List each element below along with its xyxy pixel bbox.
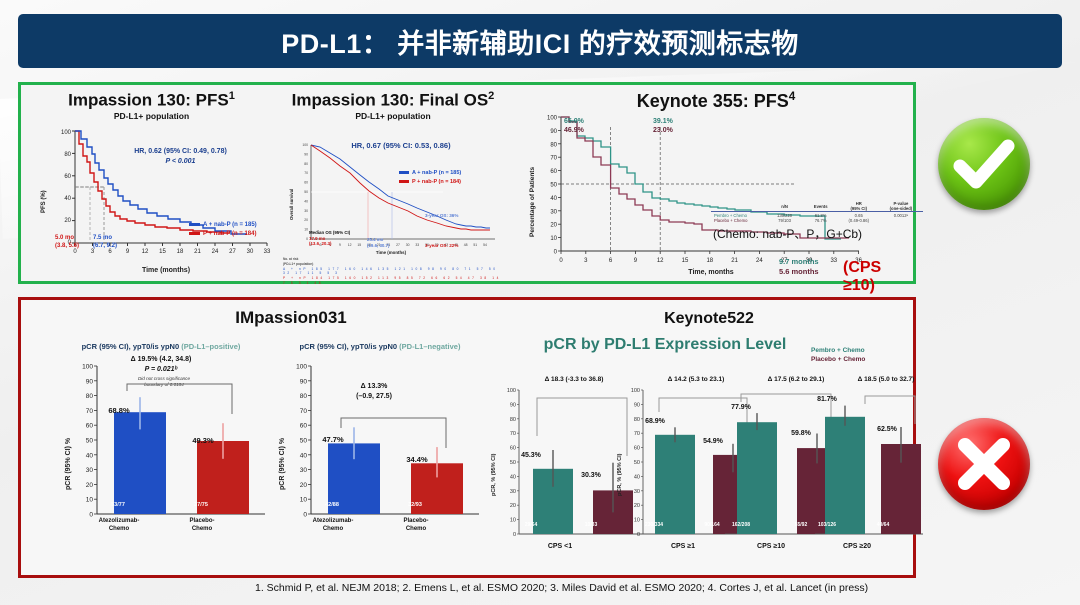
svg-text:80: 80 [64,152,71,158]
svg-text:80: 80 [300,393,308,400]
svg-text:33: 33 [264,249,271,255]
svg-text:80: 80 [86,393,94,400]
svg-text:60: 60 [86,423,94,430]
legend-swatch-blue [189,223,200,226]
svg-text:12: 12 [657,258,664,264]
svg-text:100: 100 [547,116,558,122]
svg-text:20: 20 [304,218,308,222]
value-label-atezo-positive: 68.8% [89,406,149,415]
n-label-cps-lt1-pembro: 29/64 [507,522,555,528]
svg-text:18: 18 [177,249,184,255]
svg-text:27: 27 [229,249,236,255]
svg-text:60: 60 [64,174,71,180]
svg-text:10: 10 [550,236,557,242]
svg-text:90: 90 [634,402,640,408]
svg-text:100: 100 [296,364,307,371]
stats-table-keynote355: n/N Events HR(95% CI) P-value(one-sided)… [711,201,923,223]
svg-text:40: 40 [550,196,557,202]
svg-text:9: 9 [634,258,638,264]
ylabel-cps-lt1: pCR, % (95% CI) [491,454,497,496]
ylabel-impassion031-positive: pCR (95% CI) % [65,438,72,490]
svg-text:30: 30 [406,243,410,247]
stat-hr-ci: (0.49-0.86) [839,218,879,223]
n-label-cps-ge20-pembro: 103/126 [803,522,851,528]
category-label-atezo-positive: Atezolizumab-Chemo [83,518,155,533]
svg-text:0: 0 [637,532,640,538]
n-label-cps-ge1-pembro: 230/334 [629,522,679,528]
svg-text:9: 9 [126,249,130,255]
svg-text:50: 50 [86,438,94,445]
chart-title-impassion031-negative: pCR (95% CI), ypT0/is ypN0 (PD-L1–negati… [269,342,491,351]
n-label-cps-lt1-placebo: 10/33 [567,522,615,528]
stat-col-events: Events [803,201,839,212]
ylabel-impassion130-pfs: PFS (%) [41,190,47,213]
median-label-pfs-red: 5.0 mo (3.8, 5.6) [55,235,79,250]
svg-text:12: 12 [142,249,149,255]
value-label-cps-ge10-pembro: 77.9% [717,404,765,411]
svg-text:0: 0 [554,250,558,256]
svg-text:20: 20 [64,218,71,224]
svg-text:24: 24 [756,258,763,264]
svg-text:30: 30 [510,489,516,495]
xlabel-keynote355: Time, months [621,269,801,276]
delta-impassion031-negative: Δ 13.3% [309,383,439,390]
svg-text:80: 80 [304,162,308,166]
stat-row-placebo: Placebo + Chemo 79/103 76.7% (0.49-0.86) [711,218,923,223]
value-label-atezo-negative: 47.7% [303,435,363,444]
ylabel-impassion130-os: Overall survival [289,189,294,220]
value-label-cps-ge20-placebo: 62.5% [863,426,911,433]
category-label-cps-lt1: CPS <1 [505,543,615,552]
svg-text:40: 40 [64,196,71,202]
cps-note-keynote355: (CPS ≥10) [843,259,913,295]
svg-text:40: 40 [86,452,94,459]
svg-text:100: 100 [82,364,93,371]
svg-text:0: 0 [559,258,563,264]
svg-text:50: 50 [510,460,516,466]
legend-item-pembro: Pembro + Chemo [811,346,865,355]
landmark-12mo-keynote355: 39.1% 23.0% [653,117,673,136]
svg-text:15: 15 [159,249,166,255]
category-label-placebo-negative: Placebo-Chemo [380,518,452,533]
risk-table-impassion130-os: No. at risk (PD-L1+ population) A + nP 1… [283,257,508,286]
svg-text:0: 0 [306,237,308,241]
panel-predictive-negative: IMpassion031 Keynote522 pCR (95% CI), yp… [18,297,916,578]
svg-text:20: 20 [510,503,516,509]
svg-text:100: 100 [61,130,72,136]
svg-text:50: 50 [304,190,308,194]
legend-item-placebo: Placebo + Chemo [811,355,865,364]
svg-text:70: 70 [300,408,308,415]
svg-text:40: 40 [300,452,308,459]
ylabel-cps-ge1: pCR, % (95% CI) [617,454,623,496]
svg-text:70: 70 [304,171,308,175]
slide-title-bar: PD-L1： 并非新辅助ICI 的疗效预测标志物 [18,14,1062,68]
svg-text:100: 100 [631,388,640,394]
svg-text:100: 100 [302,143,308,147]
n-label-placebo-positive: 37/75 [172,502,230,508]
delta-ci-impassion031-negative: (–0.9, 27.5) [309,393,439,400]
svg-text:60: 60 [510,446,516,452]
landmark-6mo-keynote355: 65.0% 46.9% [564,117,584,136]
median-label-pfs-blue: 7.5 mo (6.7, 9.2) [93,235,117,250]
svg-text:20: 20 [300,482,308,489]
chart-title-keynote522: pCR by PD-L1 Expression Level [485,336,845,354]
references-footnote: 1. Schmid P, et al. NEJM 2018; 2. Emens … [255,582,1075,594]
landmark-os-blue: 3-year OS: 36% [425,213,458,218]
svg-text:15: 15 [682,258,689,264]
svg-text:15: 15 [357,243,361,247]
n-label-cps-ge10-pembro: 162/208 [717,522,765,528]
svg-text:90: 90 [86,378,94,385]
svg-text:21: 21 [731,258,738,264]
legend-swatch-blue-os [399,171,409,174]
category-label-placebo-positive: Placebo-Chemo [166,518,238,533]
median-box-impassion130-os: Median OS (95% CI) 17.9 mo (13.6, 20.3) [309,230,350,247]
svg-text:50: 50 [550,183,557,189]
n-label-placebo-negative: 32/93 [386,502,444,508]
svg-text:20: 20 [86,482,94,489]
svg-text:30: 30 [634,489,640,495]
svg-text:30: 30 [304,209,308,213]
ylabel-keynote355: Percentage of Patients [529,167,536,237]
value-label-placebo-positive: 49.3% [173,436,233,445]
stat-col-p: P-value(one-sided) [879,201,923,212]
stat-col-hr: HR(95% CI) [839,201,879,212]
svg-text:40: 40 [510,474,516,480]
legend-swatch-red-os [399,180,409,183]
hr-annotation-impassion130-os: HR, 0.67 (95% CI: 0.53, 0.86) [321,141,481,152]
xlabel-impassion130-os: Time (months) [331,250,451,255]
n-label-atezo-positive: 53/77 [89,502,147,508]
section-header-keynote522: Keynote522 [589,310,829,328]
svg-text:90: 90 [550,129,557,135]
value-label-cps-ge20-pembro: 81.7% [803,396,851,403]
svg-text:40: 40 [634,474,640,480]
svg-text:60: 60 [300,423,308,430]
svg-text:6: 6 [609,258,613,264]
legend-keynote522: Pembro + Chemo Placebo + Chemo [811,346,865,365]
category-label-atezo-negative: Atezolizumab-Chemo [297,518,369,533]
svg-text:3: 3 [584,258,588,264]
svg-text:20: 20 [634,503,640,509]
svg-text:60: 60 [304,181,308,185]
check-icon [938,118,1030,210]
svg-text:90: 90 [300,378,308,385]
slide-canvas: PD-L1： 并非新辅助ICI 的疗效预测标志物 Impassion 130: … [0,0,1080,605]
svg-text:27: 27 [396,243,400,247]
svg-text:100: 100 [507,388,516,394]
median-blue-impassion130-os: 25.4 mo (19.6, 30.7) [367,237,389,248]
xlabel-impassion130-pfs: Time (months) [76,267,256,274]
chart-title-impassion130-pfs: Impassion 130: PFS1 [29,90,274,111]
n-label-atezo-negative: 42/88 [303,502,361,508]
svg-text:54: 54 [483,243,487,247]
cross-icon [938,418,1030,510]
svg-text:70: 70 [634,431,640,437]
category-label-cps-ge20: CPS ≥20 [803,543,911,552]
value-label-cps-ge1-pembro: 68.9% [631,418,679,425]
svg-text:30: 30 [86,467,94,474]
svg-text:24: 24 [212,249,219,255]
value-label-cps-lt1-placebo: 30.3% [567,472,615,479]
panel-predictive-positive: Impassion 130: PFS1 PD-L1+ population 10… [18,82,916,284]
svg-text:30: 30 [300,467,308,474]
stat-col-nn: n/N [766,201,802,212]
svg-text:80: 80 [510,417,516,423]
svg-text:33: 33 [830,258,837,264]
ylabel-impassion031-negative: pCR (95% CI) % [279,438,286,490]
section-header-impassion031: IMpassion031 [161,308,421,328]
value-label-placebo-negative: 34.4% [387,455,447,464]
svg-text:21: 21 [194,249,201,255]
chart-title-impassion031-positive: pCR (95% CI), ypT0/is ypN0 (PD-L1–positi… [51,342,271,351]
legend-swatch-red [189,232,200,235]
hr-annotation-impassion130-pfs: HR, 0.62 (95% CI: 0.49, 0.78) P < 0.001 [103,147,258,167]
svg-text:10: 10 [304,228,308,232]
svg-text:30: 30 [550,209,557,215]
chart-subtitle-impassion130-pfs: PD-L1+ population [29,111,274,121]
svg-text:60: 60 [550,169,557,175]
svg-text:90: 90 [304,152,308,156]
svg-text:90: 90 [510,402,516,408]
legend-impassion130-pfs: A + nab-P (n = 185) P + nab-P (n = 184) [189,221,257,240]
chemo-note-keynote355: (Chemo: nab-P、P，G+Cb) [713,225,862,242]
landmark-os-red: 3-year OS: 22% [425,243,458,248]
n-label-cps-ge20-placebo: 40/64 [859,522,907,528]
legend-impassion130-os: A + nab-P (n = 185) P + nab-P (n = 184) [399,169,461,186]
page-title: PD-L1： 并非新辅助ICI 的疗效预测标志物 [281,22,799,61]
svg-text:80: 80 [550,142,557,148]
svg-text:40: 40 [304,199,308,203]
svg-text:30: 30 [247,249,254,255]
svg-text:20: 20 [550,223,557,229]
bar-chart-cps-ge20 [811,382,941,558]
svg-text:60: 60 [634,446,640,452]
svg-text:70: 70 [510,431,516,437]
svg-text:18: 18 [706,258,713,264]
chart-title-impassion130-os: Impassion 130: Final OS2 [279,90,507,111]
svg-text:48: 48 [464,243,468,247]
chart-subtitle-impassion130-os: PD-L1+ population [279,111,507,121]
svg-text:70: 70 [550,156,557,162]
svg-text:33: 33 [415,243,419,247]
svg-text:50: 50 [634,460,640,466]
svg-text:51: 51 [473,243,477,247]
value-label-cps-lt1-pembro: 45.3% [507,452,555,459]
svg-text:0: 0 [513,532,516,538]
